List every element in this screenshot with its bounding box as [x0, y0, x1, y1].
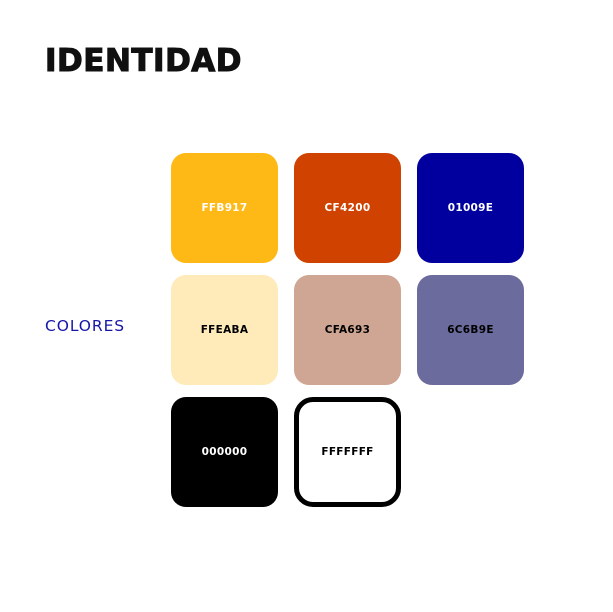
swatch-6c6b9e[interactable]: 6C6B9E: [417, 275, 524, 385]
swatch-empty: [417, 397, 524, 507]
swatch-hex-label: FFFFFFF: [321, 446, 373, 459]
swatch-hex-label: CFA693: [325, 324, 371, 337]
swatch-000000[interactable]: 000000: [171, 397, 278, 507]
swatch-hex-label: 000000: [202, 446, 248, 459]
swatch-cfa693[interactable]: CFA693: [294, 275, 401, 385]
color-swatch-grid: FFB917CF420001009EFFEABACFA6936C6B9E0000…: [171, 153, 532, 507]
swatch-ffb917[interactable]: FFB917: [171, 153, 278, 263]
swatch-ffffff[interactable]: FFFFFFF: [294, 397, 401, 507]
identity-colors-page: IDENTIDAD COLORES FFB917CF420001009EFFEA…: [0, 0, 613, 612]
swatch-hex-label: FFEABA: [201, 324, 249, 337]
swatch-hex-label: CF4200: [325, 202, 371, 215]
swatch-01009e[interactable]: 01009E: [417, 153, 524, 263]
page-title: IDENTIDAD: [45, 42, 242, 80]
swatch-hex-label: 6C6B9E: [447, 324, 494, 337]
swatch-cf4200[interactable]: CF4200: [294, 153, 401, 263]
swatch-ffeaba[interactable]: FFEABA: [171, 275, 278, 385]
swatch-hex-label: 01009E: [448, 202, 494, 215]
swatch-hex-label: FFB917: [201, 202, 247, 215]
section-label-colores: COLORES: [45, 316, 125, 336]
